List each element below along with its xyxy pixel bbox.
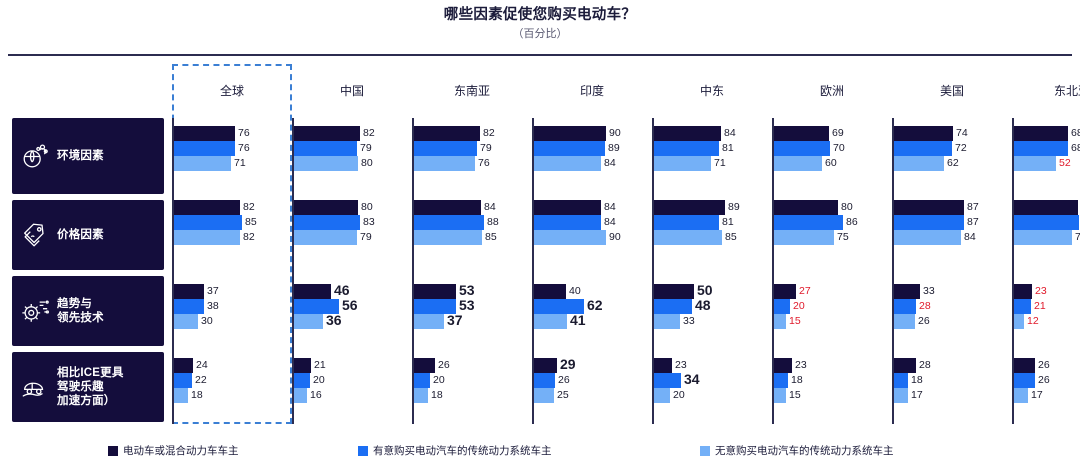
bar-2-5-2 bbox=[774, 314, 786, 329]
bar-2-1-2 bbox=[294, 314, 323, 329]
row-label-text-3: 相比ICE更具 驾驶乐趣 加速方面） bbox=[57, 366, 124, 408]
bar-1-7-0 bbox=[1014, 200, 1078, 215]
bar-value-label-1-2-0: 84 bbox=[484, 200, 496, 215]
bar-value-label-0-1-0: 82 bbox=[363, 126, 375, 141]
bar-0-0-0 bbox=[174, 126, 235, 141]
group-axis-line bbox=[292, 118, 294, 424]
bar-0-6-2 bbox=[894, 156, 944, 171]
bar-group-7: 686852808172232112262617 bbox=[1012, 118, 1080, 424]
bar-value-label-0-3-2: 84 bbox=[604, 156, 616, 171]
bar-3-3-0 bbox=[534, 358, 557, 373]
bar-value-label-0-0-1: 76 bbox=[238, 141, 250, 156]
bar-value-label-3-5-1: 18 bbox=[791, 373, 803, 388]
bar-value-label-1-4-0: 89 bbox=[728, 200, 740, 215]
bar-2-2-2 bbox=[414, 314, 444, 329]
group-axis-line bbox=[1012, 118, 1014, 424]
row-label-band-2: 趋势与 领先技术 bbox=[12, 276, 164, 346]
bar-value-label-1-0-2: 82 bbox=[243, 230, 255, 245]
bar-1-5-2 bbox=[774, 230, 834, 245]
bar-2-6-0 bbox=[894, 284, 920, 299]
bar-0-0-2 bbox=[174, 156, 231, 171]
bar-2-1-1 bbox=[294, 299, 339, 314]
bar-0-4-1 bbox=[654, 141, 719, 156]
bar-1-5-0 bbox=[774, 200, 838, 215]
bar-value-label-2-2-0: 53 bbox=[459, 283, 475, 298]
bar-0-7-2 bbox=[1014, 156, 1056, 171]
bar-2-7-2 bbox=[1014, 314, 1024, 329]
bar-2-7-0 bbox=[1014, 284, 1032, 299]
bar-1-2-0 bbox=[414, 200, 481, 215]
bar-value-label-2-1-0: 46 bbox=[334, 283, 350, 298]
bar-0-6-0 bbox=[894, 126, 953, 141]
bar-value-label-2-1-1: 56 bbox=[342, 298, 358, 313]
bar-value-label-0-1-1: 79 bbox=[360, 141, 372, 156]
bar-value-label-2-0-1: 38 bbox=[207, 299, 219, 314]
bar-value-label-1-1-2: 79 bbox=[360, 230, 372, 245]
bar-value-label-3-3-0: 29 bbox=[560, 357, 576, 372]
column-header-7[interactable]: 东北亚 bbox=[1012, 78, 1080, 104]
bar-1-7-2 bbox=[1014, 230, 1072, 245]
bar-value-label-3-6-1: 18 bbox=[911, 373, 923, 388]
bar-value-label-3-1-2: 16 bbox=[310, 388, 322, 403]
bar-value-label-0-4-1: 81 bbox=[722, 141, 734, 156]
bar-value-label-3-4-2: 20 bbox=[673, 388, 685, 403]
row-label-text-0: 环境因素 bbox=[57, 149, 104, 163]
bar-group-1: 827980808379465636212016 bbox=[292, 118, 412, 424]
bar-3-7-2 bbox=[1014, 388, 1028, 403]
bar-0-5-0 bbox=[774, 126, 829, 141]
bar-value-label-3-1-1: 20 bbox=[313, 373, 325, 388]
bar-value-label-1-3-1: 84 bbox=[604, 215, 616, 230]
bar-2-0-0 bbox=[174, 284, 204, 299]
bar-group-0: 767671828582373830242218 bbox=[172, 118, 292, 424]
page-subtitle: （百分比） bbox=[0, 27, 1080, 41]
bar-3-0-0 bbox=[174, 358, 193, 373]
bar-value-label-2-5-0: 27 bbox=[799, 284, 811, 299]
bar-value-label-3-2-0: 26 bbox=[438, 358, 450, 373]
bar-0-2-0 bbox=[414, 126, 480, 141]
legend-label-2: 无意购买电动汽车的传统动力系统车主 bbox=[715, 444, 894, 458]
bar-1-7-1 bbox=[1014, 215, 1079, 230]
bar-value-label-3-6-2: 17 bbox=[911, 388, 923, 403]
bar-2-5-1 bbox=[774, 299, 790, 314]
bar-3-2-0 bbox=[414, 358, 435, 373]
bar-3-4-1 bbox=[654, 373, 681, 388]
bar-1-2-2 bbox=[414, 230, 482, 245]
bar-3-5-0 bbox=[774, 358, 792, 373]
bar-value-label-2-4-1: 48 bbox=[695, 298, 711, 313]
bar-value-label-1-5-1: 86 bbox=[846, 215, 858, 230]
bar-value-label-1-1-0: 80 bbox=[361, 200, 373, 215]
bar-value-label-2-0-2: 30 bbox=[201, 314, 213, 329]
bar-0-2-1 bbox=[414, 141, 477, 156]
bar-value-label-0-7-2: 52 bbox=[1059, 156, 1071, 171]
bar-value-label-3-5-2: 15 bbox=[789, 388, 801, 403]
row-label-band-1: 价格因素 bbox=[12, 200, 164, 270]
bar-3-7-0 bbox=[1014, 358, 1035, 373]
bar-1-4-1 bbox=[654, 215, 719, 230]
bar-3-3-1 bbox=[534, 373, 555, 388]
group-axis-line bbox=[652, 118, 654, 424]
legend-item-0[interactable]: 电动车或混合动力车车主 bbox=[108, 444, 239, 458]
bar-1-1-2 bbox=[294, 230, 357, 245]
row-label-band-0: 环境因素 bbox=[12, 118, 164, 194]
bar-3-1-2 bbox=[294, 388, 307, 403]
bar-value-label-3-1-0: 21 bbox=[314, 358, 326, 373]
bar-value-label-2-0-0: 37 bbox=[207, 284, 219, 299]
bar-value-label-3-7-1: 26 bbox=[1038, 373, 1050, 388]
gear-tech-icon bbox=[20, 296, 50, 326]
bar-3-1-1 bbox=[294, 373, 310, 388]
bar-value-label-0-4-2: 71 bbox=[714, 156, 726, 171]
bar-1-3-0 bbox=[534, 200, 601, 215]
bar-value-label-3-2-1: 20 bbox=[433, 373, 445, 388]
bar-2-0-1 bbox=[174, 299, 204, 314]
bar-value-label-2-6-1: 28 bbox=[919, 299, 931, 314]
bar-value-label-2-7-1: 21 bbox=[1034, 299, 1046, 314]
title-block: 哪些因素促使您购买电动车？ （百分比） bbox=[0, 6, 1080, 41]
bar-value-label-1-1-1: 83 bbox=[363, 215, 375, 230]
price-tag-icon bbox=[20, 220, 50, 250]
car-icon bbox=[20, 372, 50, 402]
bar-value-label-1-3-0: 84 bbox=[604, 200, 616, 215]
bar-value-label-1-6-1: 87 bbox=[967, 215, 979, 230]
bar-value-label-0-3-0: 90 bbox=[609, 126, 621, 141]
bar-group-4: 848171898185504833233420 bbox=[652, 118, 772, 424]
bar-value-label-0-5-2: 60 bbox=[825, 156, 837, 171]
bar-value-label-1-6-2: 84 bbox=[964, 230, 976, 245]
legend-label-1: 有意购买电动汽车的传统动力系统车主 bbox=[373, 444, 552, 458]
bar-0-0-1 bbox=[174, 141, 235, 156]
bar-value-label-0-0-0: 76 bbox=[238, 126, 250, 141]
bar-value-label-2-7-0: 23 bbox=[1035, 284, 1047, 299]
bar-value-label-2-3-1: 62 bbox=[587, 298, 603, 313]
bar-2-6-2 bbox=[894, 314, 915, 329]
bar-3-2-2 bbox=[414, 388, 428, 403]
legend-item-1[interactable]: 有意购买电动汽车的传统动力系统车主 bbox=[358, 444, 552, 458]
bar-0-3-1 bbox=[534, 141, 605, 156]
legend-item-2[interactable]: 无意购买电动汽车的传统动力系统车主 bbox=[700, 444, 894, 458]
bar-group-2: 827976848885535337262018 bbox=[412, 118, 532, 424]
title-divider bbox=[8, 54, 1072, 56]
bar-1-5-1 bbox=[774, 215, 843, 230]
bar-2-2-1 bbox=[414, 299, 456, 314]
bar-2-1-0 bbox=[294, 284, 331, 299]
bar-2-4-0 bbox=[654, 284, 694, 299]
bar-3-2-1 bbox=[414, 373, 430, 388]
bar-value-label-2-3-0: 40 bbox=[569, 284, 581, 299]
bar-2-4-2 bbox=[654, 314, 680, 329]
bar-value-label-3-3-2: 25 bbox=[557, 388, 569, 403]
highlight-box-global bbox=[172, 64, 292, 424]
legend-swatch-lightblue bbox=[700, 446, 710, 456]
bar-2-7-1 bbox=[1014, 299, 1031, 314]
bar-value-label-2-5-2: 15 bbox=[789, 314, 801, 329]
bar-0-5-2 bbox=[774, 156, 822, 171]
bar-0-7-0 bbox=[1014, 126, 1068, 141]
bar-value-label-2-6-2: 26 bbox=[918, 314, 930, 329]
column-header-3[interactable]: 印度 bbox=[532, 78, 652, 104]
bar-3-5-1 bbox=[774, 373, 788, 388]
bar-value-label-3-0-2: 18 bbox=[191, 388, 203, 403]
bar-value-label-1-2-1: 88 bbox=[487, 215, 499, 230]
bar-value-label-1-4-2: 85 bbox=[725, 230, 737, 245]
bar-0-1-0 bbox=[294, 126, 360, 141]
row-label-text-1: 价格因素 bbox=[57, 228, 104, 242]
bar-1-6-0 bbox=[894, 200, 964, 215]
group-axis-line bbox=[412, 118, 414, 424]
bar-1-1-0 bbox=[294, 200, 358, 215]
bar-value-label-1-0-1: 85 bbox=[245, 215, 257, 230]
bar-2-4-1 bbox=[654, 299, 692, 314]
bar-value-label-3-4-0: 23 bbox=[675, 358, 687, 373]
bar-value-label-0-4-0: 84 bbox=[724, 126, 736, 141]
bar-value-label-1-0-0: 82 bbox=[243, 200, 255, 215]
bar-value-label-2-4-2: 33 bbox=[683, 314, 695, 329]
globe-leaf-icon bbox=[20, 141, 50, 171]
bar-value-label-0-6-0: 74 bbox=[956, 126, 968, 141]
bar-value-label-0-7-0: 68 bbox=[1071, 126, 1080, 141]
bar-value-label-1-5-2: 75 bbox=[837, 230, 849, 245]
bar-group-3: 908984848490406241292625 bbox=[532, 118, 652, 424]
bar-3-6-1 bbox=[894, 373, 908, 388]
bar-1-3-2 bbox=[534, 230, 606, 245]
bar-3-4-0 bbox=[654, 358, 672, 373]
bar-value-label-2-6-0: 33 bbox=[923, 284, 935, 299]
bar-value-label-3-4-1: 34 bbox=[684, 372, 700, 387]
bar-2-5-0 bbox=[774, 284, 796, 299]
bar-1-6-2 bbox=[894, 230, 961, 245]
bar-value-label-0-2-0: 82 bbox=[483, 126, 495, 141]
bar-2-6-1 bbox=[894, 299, 916, 314]
bar-3-5-2 bbox=[774, 388, 786, 403]
bar-value-label-0-2-2: 76 bbox=[478, 156, 490, 171]
legend-swatch-blue bbox=[358, 446, 368, 456]
legend-label-0: 电动车或混合动力车车主 bbox=[123, 444, 239, 458]
bar-2-2-0 bbox=[414, 284, 456, 299]
bar-value-label-2-7-2: 12 bbox=[1027, 314, 1039, 329]
bar-0-7-1 bbox=[1014, 141, 1068, 156]
bar-value-label-2-4-0: 50 bbox=[697, 283, 713, 298]
bar-0-5-1 bbox=[774, 141, 830, 156]
chart-container: 哪些因素促使您购买电动车？ （百分比） 全球中国东南亚印度中东欧洲美国东北亚 环… bbox=[0, 0, 1080, 472]
bar-value-label-0-5-0: 69 bbox=[832, 126, 844, 141]
bar-3-6-0 bbox=[894, 358, 916, 373]
bar-1-4-2 bbox=[654, 230, 722, 245]
group-axis-line bbox=[532, 118, 534, 424]
group-axis-line bbox=[772, 118, 774, 424]
bar-value-label-2-5-1: 20 bbox=[793, 299, 805, 314]
bar-0-3-0 bbox=[534, 126, 606, 141]
bar-3-0-1 bbox=[174, 373, 192, 388]
bar-1-0-2 bbox=[174, 230, 240, 245]
row-label-band-3: 相比ICE更具 驾驶乐趣 加速方面） bbox=[12, 352, 164, 422]
bar-value-label-0-6-2: 62 bbox=[947, 156, 959, 171]
column-header-2[interactable]: 东南亚 bbox=[412, 78, 532, 104]
bar-1-0-0 bbox=[174, 200, 240, 215]
legend-swatch-dark bbox=[108, 446, 118, 456]
column-header-row: 全球中国东南亚印度中东欧洲美国东北亚 bbox=[0, 78, 1080, 104]
column-header-6[interactable]: 美国 bbox=[892, 78, 1012, 104]
bar-value-label-3-6-0: 28 bbox=[919, 358, 931, 373]
bar-value-label-2-2-2: 37 bbox=[447, 313, 463, 328]
column-header-4[interactable]: 中东 bbox=[652, 78, 772, 104]
bar-value-label-0-2-1: 79 bbox=[480, 141, 492, 156]
bar-value-label-0-0-2: 71 bbox=[234, 156, 246, 171]
bar-value-label-1-4-1: 81 bbox=[722, 215, 734, 230]
group-axis-line bbox=[892, 118, 894, 424]
bar-3-6-2 bbox=[894, 388, 908, 403]
bar-0-1-1 bbox=[294, 141, 357, 156]
bar-1-6-1 bbox=[894, 215, 964, 230]
bar-value-label-2-3-2: 41 bbox=[570, 313, 586, 328]
bar-value-label-3-2-2: 18 bbox=[431, 388, 443, 403]
bar-value-label-3-7-2: 17 bbox=[1031, 388, 1043, 403]
bar-value-label-0-6-1: 72 bbox=[955, 141, 967, 156]
bar-value-label-3-7-0: 26 bbox=[1038, 358, 1050, 373]
bar-1-0-1 bbox=[174, 215, 242, 230]
bar-value-label-1-7-2: 72 bbox=[1075, 230, 1080, 245]
bar-1-4-0 bbox=[654, 200, 725, 215]
bar-value-label-1-5-0: 80 bbox=[841, 200, 853, 215]
bar-0-4-0 bbox=[654, 126, 721, 141]
bar-value-label-0-5-1: 70 bbox=[833, 141, 845, 156]
bar-3-3-2 bbox=[534, 388, 554, 403]
group-axis-line bbox=[172, 118, 174, 424]
bar-2-0-2 bbox=[174, 314, 198, 329]
bar-value-label-3-0-1: 22 bbox=[195, 373, 207, 388]
bar-1-1-1 bbox=[294, 215, 360, 230]
bar-value-label-3-0-0: 24 bbox=[196, 358, 208, 373]
bar-1-3-1 bbox=[534, 215, 601, 230]
bar-value-label-1-3-2: 90 bbox=[609, 230, 621, 245]
bar-value-label-2-2-1: 53 bbox=[459, 298, 475, 313]
bar-value-label-1-2-2: 85 bbox=[485, 230, 497, 245]
bar-value-label-3-5-0: 23 bbox=[795, 358, 807, 373]
bar-2-3-1 bbox=[534, 299, 584, 314]
page-title: 哪些因素促使您购买电动车？ bbox=[0, 6, 1080, 24]
bar-group-5: 697060808675272015231815 bbox=[772, 118, 892, 424]
bar-3-4-2 bbox=[654, 388, 670, 403]
bar-0-2-2 bbox=[414, 156, 475, 171]
bar-value-label-0-1-2: 80 bbox=[361, 156, 373, 171]
legend: 电动车或混合动力车车主有意购买电动汽车的传统动力系统车主无意购买电动汽车的传统动… bbox=[0, 444, 1080, 464]
bar-0-1-2 bbox=[294, 156, 358, 171]
bar-1-2-1 bbox=[414, 215, 484, 230]
bar-value-label-3-3-1: 26 bbox=[558, 373, 570, 388]
bar-value-label-2-1-2: 36 bbox=[326, 313, 342, 328]
bar-value-label-0-7-1: 68 bbox=[1071, 141, 1080, 156]
bar-0-6-1 bbox=[894, 141, 952, 156]
bar-2-3-2 bbox=[534, 314, 567, 329]
bar-group-6: 747262878784332826281817 bbox=[892, 118, 1012, 424]
row-label-text-2: 趋势与 领先技术 bbox=[57, 297, 104, 325]
column-header-0[interactable]: 全球 bbox=[172, 78, 292, 104]
bar-3-1-0 bbox=[294, 358, 311, 373]
bar-value-label-1-6-0: 87 bbox=[967, 200, 979, 215]
bar-value-label-0-3-1: 89 bbox=[608, 141, 620, 156]
bar-3-7-1 bbox=[1014, 373, 1035, 388]
bar-2-3-0 bbox=[534, 284, 566, 299]
bar-0-3-2 bbox=[534, 156, 601, 171]
bar-0-4-2 bbox=[654, 156, 711, 171]
column-header-1[interactable]: 中国 bbox=[292, 78, 412, 104]
bar-3-0-2 bbox=[174, 388, 188, 403]
column-header-5[interactable]: 欧洲 bbox=[772, 78, 892, 104]
